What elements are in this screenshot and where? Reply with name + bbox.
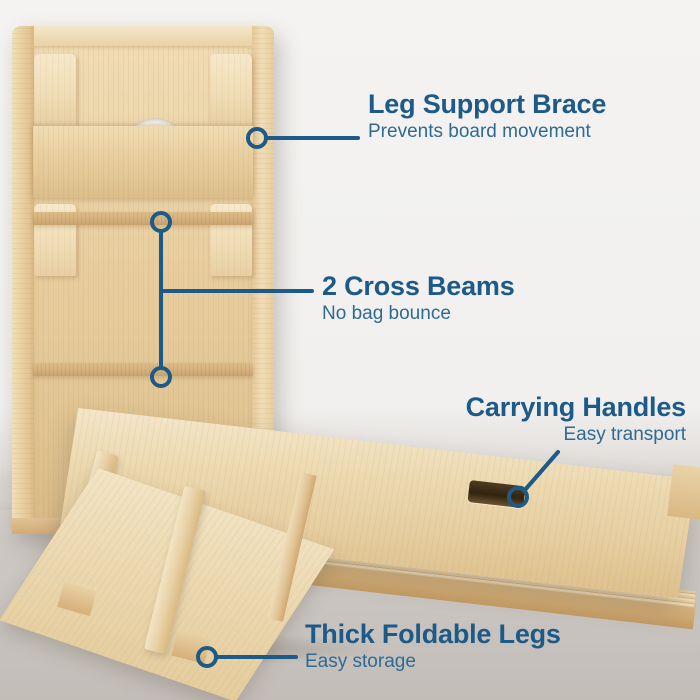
marker-carrying-handles (509, 488, 527, 506)
callout-subtitle: No bag bounce (322, 303, 515, 325)
marker-cross-beam-upper (152, 213, 170, 231)
callout-subtitle: Easy storage (305, 651, 561, 673)
callout-cross-beams: 2 Cross Beams No bag bounce (322, 272, 515, 325)
callout-title: Leg Support Brace (368, 90, 606, 118)
callout-carrying-handles: Carrying Handles Easy transport (466, 393, 686, 446)
callout-title: Thick Foldable Legs (305, 620, 561, 648)
callout-leg-support-brace: Leg Support Brace Prevents board movemen… (368, 90, 606, 143)
callout-annotation-layer: Leg Support Brace Prevents board movemen… (0, 0, 700, 700)
callout-title: Carrying Handles (466, 393, 686, 421)
leader-line-carrying-handles (524, 452, 558, 491)
callout-title: 2 Cross Beams (322, 272, 515, 300)
marker-leg-support-brace (248, 129, 266, 147)
marker-foldable-legs (198, 648, 216, 666)
infographic-canvas: Leg Support Brace Prevents board movemen… (0, 0, 700, 700)
callout-subtitle: Prevents board movement (368, 121, 606, 143)
callout-subtitle: Easy transport (466, 424, 686, 446)
callout-thick-foldable-legs: Thick Foldable Legs Easy storage (305, 620, 561, 673)
marker-cross-beam-lower (152, 368, 170, 386)
